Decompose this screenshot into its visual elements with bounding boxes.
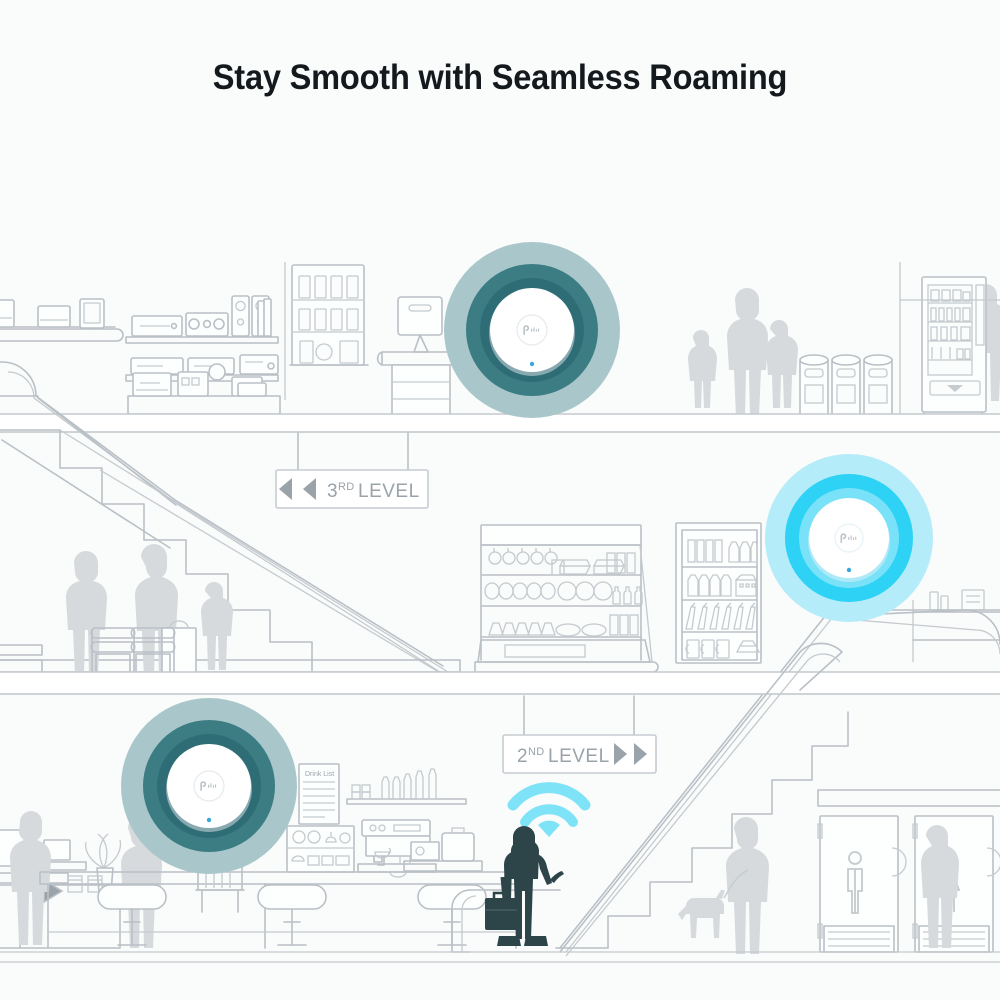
sign2-number: 2 — [517, 746, 528, 767]
page-title: Stay Smooth with Seamless Roaming — [35, 58, 965, 98]
display-case — [287, 826, 354, 872]
access-point-third-level[interactable] — [444, 242, 620, 418]
shopping-bag — [162, 621, 196, 674]
illustration-canvas: Stay Smooth with Seamless Roaming — [0, 0, 1000, 1000]
mall-scene: 3 RD LEVEL — [0, 0, 1000, 1000]
ap-led-indicator — [847, 568, 851, 572]
sign3-label: LEVEL — [358, 481, 420, 502]
access-point-second-level[interactable] — [765, 454, 933, 622]
access-point-first-level[interactable] — [121, 698, 297, 874]
ap-led-indicator — [530, 362, 534, 366]
floor-slab-3 — [0, 414, 1000, 432]
drink-list-title: Drink List — [305, 771, 334, 778]
drink-list-board: Drink List — [299, 764, 339, 824]
briefcase — [485, 893, 517, 930]
floor-slab-2 — [0, 672, 1000, 694]
cosmetics-shelf — [292, 265, 364, 365]
household-goods-shelf — [676, 523, 761, 663]
ap-led-indicator — [207, 818, 211, 822]
sign2-ordinal: ND — [528, 746, 545, 758]
vending-machine — [922, 277, 986, 422]
trash-bins — [800, 355, 892, 415]
sign3-number: 3 — [327, 481, 338, 502]
sign3-ordinal: RD — [338, 481, 355, 493]
arm-holding-briefcase — [503, 877, 505, 899]
sign2-label: LEVEL — [548, 746, 610, 767]
